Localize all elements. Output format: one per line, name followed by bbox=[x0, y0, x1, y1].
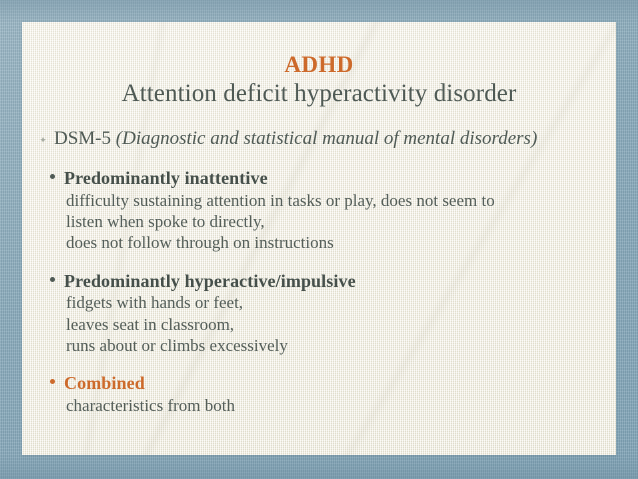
list-item-heading: Combined bbox=[64, 372, 606, 395]
slide-content-card: ADHD Attention deficit hyperactivity dis… bbox=[22, 22, 616, 455]
frame-top-shading bbox=[0, 0, 638, 24]
list-item-line: runs about or climbs excessively bbox=[64, 335, 606, 356]
list-item: Predominantly hyperactive/impulsive fidg… bbox=[46, 270, 606, 357]
frame-bottom-shading bbox=[0, 453, 638, 479]
diamond-bullet-icon: ✦ bbox=[32, 136, 54, 145]
list-item-heading: Predominantly inattentive bbox=[64, 167, 606, 190]
list-item: Predominantly inattentive difficulty sus… bbox=[46, 167, 606, 254]
source-expansion: (Diagnostic and statistical manual of me… bbox=[116, 128, 538, 149]
slide-frame: ADHD Attention deficit hyperactivity dis… bbox=[0, 0, 638, 479]
list-item-line: difficulty sustaining attention in tasks… bbox=[64, 190, 606, 211]
list-item-body: Predominantly hyperactive/impulsive fidg… bbox=[64, 270, 606, 357]
source-reference-text: DSM-5 (Diagnostic and statistical manual… bbox=[54, 128, 537, 150]
bullet-dot-icon bbox=[46, 167, 64, 179]
bullet-dot-icon bbox=[46, 372, 64, 384]
list-item-body: Combined characteristics from both bbox=[64, 372, 606, 416]
list-item: Combined characteristics from both bbox=[46, 372, 606, 416]
list-item-line: fidgets with hands or feet, bbox=[64, 292, 606, 313]
slide-main-title: ADHD bbox=[22, 52, 616, 77]
list-item-line: characteristics from both bbox=[64, 395, 606, 416]
list-item-body: Predominantly inattentive difficulty sus… bbox=[64, 167, 606, 254]
source-reference-line: ✦ DSM-5 (Diagnostic and statistical manu… bbox=[32, 128, 607, 150]
list-item-line: leaves seat in classroom, bbox=[64, 314, 606, 335]
bullet-dot-icon bbox=[46, 270, 64, 282]
list-item-line: listen when spoke to directly, bbox=[64, 211, 606, 232]
bullet-list: Predominantly inattentive difficulty sus… bbox=[46, 167, 606, 416]
list-item-heading: Predominantly hyperactive/impulsive bbox=[64, 270, 606, 293]
title-block: ADHD Attention deficit hyperactivity dis… bbox=[22, 52, 616, 109]
slide-subtitle: Attention deficit hyperactivity disorder bbox=[22, 80, 616, 109]
source-label: DSM-5 bbox=[54, 128, 116, 149]
list-item-line: does not follow through on instructions bbox=[64, 232, 606, 253]
